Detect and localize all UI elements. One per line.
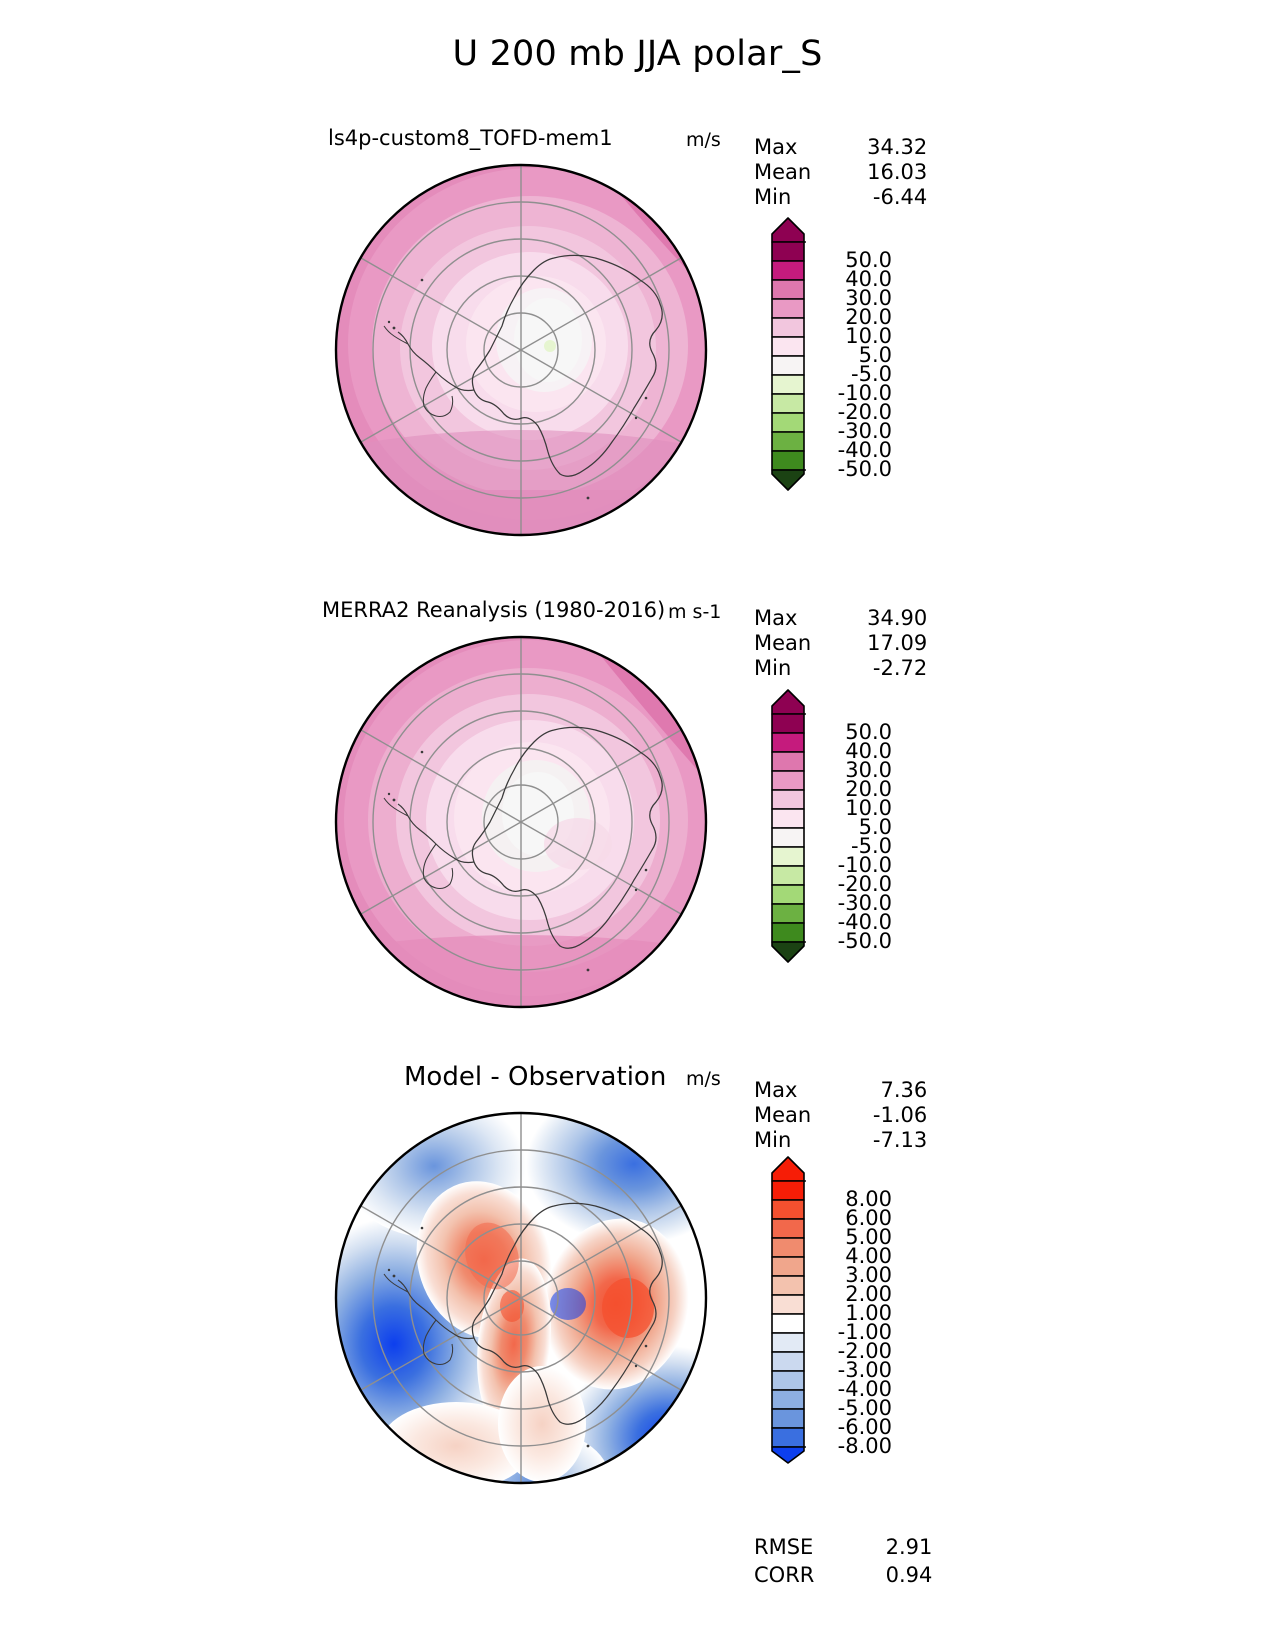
stat-value: -6.44 (841, 185, 927, 210)
panel-difference-stats: Max 7.36 Mean -1.06 Min -7.13 (754, 1078, 927, 1153)
panel-observation-units: m s-1 (668, 601, 721, 623)
colorbar-difference-labels: 8.00 6.00 5.00 4.00 3.00 2.00 1.00 -1.00… (800, 1155, 920, 1465)
stat-value: 34.90 (841, 606, 927, 631)
stat-row: Min -6.44 (754, 185, 927, 210)
stat-label: Min (754, 1128, 841, 1153)
polar-map-model (316, 160, 726, 540)
stat-label: Mean (754, 160, 841, 185)
stat-row: Min -2.72 (754, 656, 927, 681)
stat-value: 16.03 (841, 160, 927, 185)
figure-page: U 200 mb JJA polar_S ls4p-custom8_TOFD-m… (0, 0, 1275, 1650)
colorbar-model: 50.0 40.0 30.0 20.0 10.0 5.0 -5.0 -10.0 … (742, 216, 806, 492)
stat-value: -7.13 (841, 1128, 927, 1153)
stat-value: 17.09 (841, 631, 927, 656)
polar-map-difference-svg (316, 1108, 726, 1488)
colorbar-observation-labels: 50.0 40.0 30.0 20.0 10.0 5.0 -5.0 -10.0 … (800, 688, 920, 964)
stat-label: Min (754, 656, 841, 681)
panel-difference-title: Model - Observation (404, 1062, 666, 1092)
colorbar-difference: 8.00 6.00 5.00 4.00 3.00 2.00 1.00 -1.00… (742, 1155, 806, 1465)
cbar-tick-label: -50.0 (800, 929, 892, 953)
stat-value: 34.32 (841, 135, 927, 160)
stat-value: -1.06 (841, 1103, 927, 1128)
stat-row: Max 34.90 (754, 606, 927, 631)
footer-stat-label: RMSE (754, 1534, 844, 1560)
panel-difference-units: m/s (686, 1068, 721, 1090)
stat-label: Max (754, 135, 841, 160)
footer-stat-value: 2.91 (846, 1534, 932, 1560)
footer-stat-label: CORR (754, 1562, 844, 1588)
stat-row: Max 34.32 (754, 135, 927, 160)
panel-model-units: m/s (686, 129, 721, 151)
colorbar-observation: 50.0 40.0 30.0 20.0 10.0 5.0 -5.0 -10.0 … (742, 688, 806, 964)
polar-map-difference (316, 1108, 726, 1488)
stat-row: Mean 17.09 (754, 631, 927, 656)
stat-label: Mean (754, 631, 841, 656)
footer-stat-row: RMSE 2.91 (754, 1534, 932, 1560)
polar-map-observation (316, 632, 726, 1012)
colorbar-model-labels: 50.0 40.0 30.0 20.0 10.0 5.0 -5.0 -10.0 … (800, 216, 920, 492)
stat-row: Min -7.13 (754, 1128, 927, 1153)
stat-value: -2.72 (841, 656, 927, 681)
footer-stat-row: CORR 0.94 (754, 1562, 932, 1588)
polar-map-model-svg (316, 160, 726, 540)
colorbar-observation-svg (742, 688, 806, 964)
stat-row: Max 7.36 (754, 1078, 927, 1103)
figure-title: U 200 mb JJA polar_S (0, 34, 1275, 74)
colorbar-difference-svg (742, 1155, 806, 1465)
stat-row: Mean -1.06 (754, 1103, 927, 1128)
colorbar-model-svg (742, 216, 806, 492)
panel-observation-stats: Max 34.90 Mean 17.09 Min -2.72 (754, 606, 927, 681)
panel-model-stats: Max 34.32 Mean 16.03 Min -6.44 (754, 135, 927, 210)
difference-footer-stats: RMSE 2.91 CORR 0.94 (752, 1532, 934, 1590)
cbar-tick-label: -8.00 (800, 1434, 892, 1458)
panel-model-title: ls4p-custom8_TOFD-mem1 (328, 126, 613, 150)
stat-label: Mean (754, 1103, 841, 1128)
footer-stat-value: 0.94 (846, 1562, 932, 1588)
stat-value: 7.36 (841, 1078, 927, 1103)
stat-label: Max (754, 1078, 841, 1103)
stat-label: Max (754, 606, 841, 631)
stat-label: Min (754, 185, 841, 210)
panel-observation-title: MERRA2 Reanalysis (1980-2016) (322, 598, 665, 622)
cbar-tick-label: -50.0 (800, 457, 892, 481)
stat-row: Mean 16.03 (754, 160, 927, 185)
polar-map-observation-svg (316, 632, 726, 1012)
